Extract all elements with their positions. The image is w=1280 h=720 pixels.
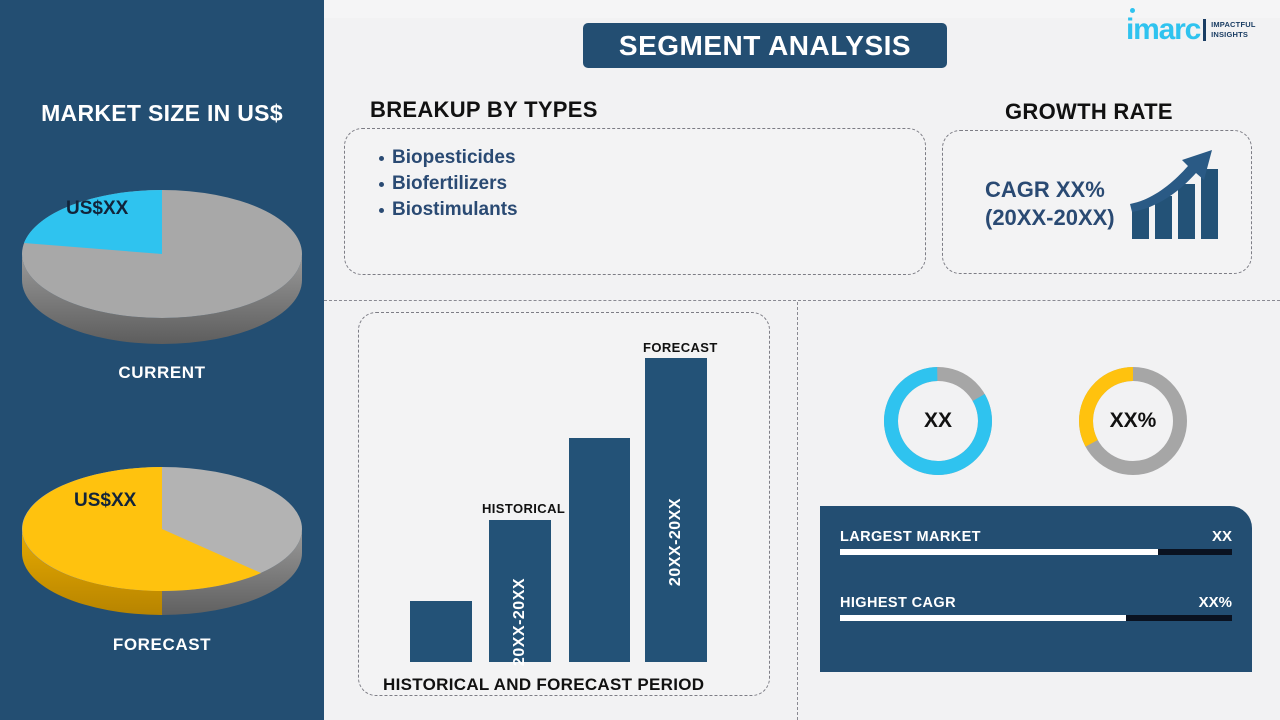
list-item: Biofertilizers: [379, 173, 925, 195]
stat-row-largest-market: LARGEST MARKET XX: [840, 528, 1232, 555]
stat-value: XX: [1212, 528, 1232, 545]
forecast-pie-chart: US$XX FORECAST: [0, 425, 324, 665]
forecast-pie-svg: [0, 425, 324, 620]
horizontal-divider: [324, 300, 1280, 301]
bullet-icon: [379, 156, 384, 161]
highest-cagr-donut-value: XX%: [1075, 363, 1191, 479]
stat-progress-track: [840, 549, 1232, 555]
growth-arrow-chart-icon: [1128, 142, 1220, 247]
imarc-logo: imarc IMPACTFUL INSIGHTS: [1126, 12, 1274, 48]
forecast-pie-caption: FORECAST: [0, 635, 324, 655]
stat-progress-fill: [840, 549, 1158, 555]
current-pie-svg: [0, 150, 324, 350]
bar-1: [410, 601, 472, 662]
logo-wordmark: imarc: [1126, 15, 1200, 45]
key-indicators-panel: LARGEST MARKET XX HIGHEST CAGR XX%: [820, 506, 1252, 672]
largest-market-donut-value: XX: [880, 363, 996, 479]
bar-2-label: 20XX-20XX: [511, 572, 529, 672]
stat-progress-fill: [840, 615, 1126, 621]
infographic-page: MARKET SIZE IN US$ US$XX CURRENT: [0, 0, 1280, 720]
vertical-divider: [797, 302, 798, 720]
logo-wordmark-text: imarc: [1126, 13, 1200, 46]
historical-bar-label: HISTORICAL: [482, 501, 565, 516]
stat-label: LARGEST MARKET: [840, 529, 981, 545]
bar-3: [569, 438, 630, 662]
cagr-line-2: (20XX-20XX): [985, 204, 1115, 232]
cagr-text: CAGR XX% (20XX-20XX): [985, 176, 1115, 231]
cagr-line-1: CAGR XX%: [985, 176, 1115, 204]
largest-market-donut: XX: [880, 363, 996, 479]
list-item: Biostimulants: [379, 199, 925, 221]
logo-tagline-line2: INSIGHTS: [1211, 30, 1256, 40]
bar-chart-axis-label: HISTORICAL AND FORECAST PERIOD: [383, 675, 704, 695]
list-item: Biopesticides: [379, 147, 925, 169]
bar-4: 20XX-20XX: [645, 358, 707, 662]
stat-label: HIGHEST CAGR: [840, 595, 956, 611]
page-title: SEGMENT ANALYSIS: [583, 23, 947, 68]
logo-dot-icon: [1130, 8, 1135, 13]
logo-tagline: IMPACTFUL INSIGHTS: [1211, 20, 1256, 40]
logo-tagline-line1: IMPACTFUL: [1211, 20, 1256, 30]
breakup-item-label: Biofertilizers: [392, 173, 507, 195]
bar-4-label: 20XX-20XX: [667, 492, 685, 592]
bullet-icon: [379, 182, 384, 187]
highest-cagr-donut: XX%: [1075, 363, 1191, 479]
market-size-title: MARKET SIZE IN US$: [0, 100, 324, 127]
breakup-item-label: Biopesticides: [392, 147, 516, 169]
logo-divider-icon: [1203, 19, 1206, 41]
current-pie-chart: US$XX CURRENT: [0, 150, 324, 400]
bar-2: 20XX-20XX: [489, 520, 551, 662]
breakup-card: Biopesticides Biofertilizers Biostimulan…: [344, 128, 926, 275]
forecast-bar-label: FORECAST: [643, 340, 718, 355]
stat-value: XX%: [1199, 594, 1232, 611]
breakup-heading: BREAKUP BY TYPES: [370, 97, 598, 123]
breakup-item-label: Biostimulants: [392, 199, 518, 221]
stat-row-highest-cagr: HIGHEST CAGR XX%: [840, 594, 1232, 621]
stat-progress-track: [840, 615, 1232, 621]
bullet-icon: [379, 208, 384, 213]
current-pie-caption: CURRENT: [0, 363, 324, 383]
market-size-panel: MARKET SIZE IN US$ US$XX CURRENT: [0, 0, 324, 720]
growth-rate-heading: GROWTH RATE: [1005, 99, 1173, 125]
